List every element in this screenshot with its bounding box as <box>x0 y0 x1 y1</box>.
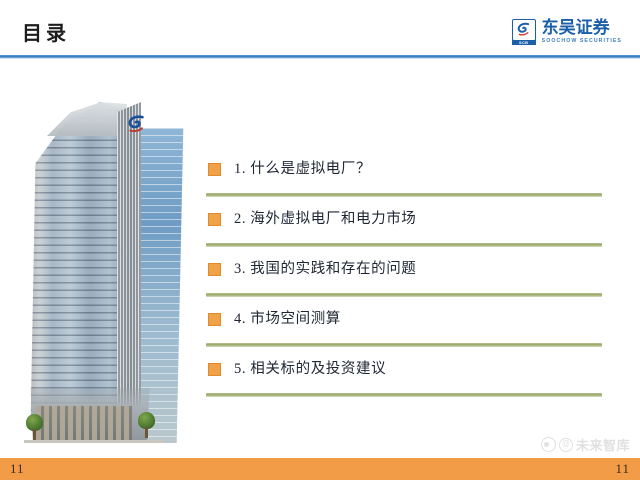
slide: 目录 SCB 东吴证券 SOOCHOW SECURITIES <box>0 0 640 480</box>
bullet-square-icon <box>208 163 221 176</box>
bullet-square-icon <box>208 263 221 276</box>
agenda-divider <box>206 293 602 297</box>
page-number-left: 11 <box>10 460 25 478</box>
agenda-item-3[interactable]: 3. 我国的实践和存在的问题 <box>206 252 604 302</box>
agenda-list: 1. 什么是虚拟电厂？ 2. 海外虚拟电厂和电力市场 3. 我国的实践和存在的问… <box>206 152 604 402</box>
brand-name-en: SOOCHOW SECURITIES <box>542 37 622 45</box>
watermark-text: 未来智库 <box>576 435 630 454</box>
logo-tag: SCB <box>512 40 536 45</box>
bullet-square-icon <box>208 363 221 376</box>
brand-text: 东吴证券 SOOCHOW SECURITIES <box>542 19 622 45</box>
agenda-divider <box>206 193 602 197</box>
agenda-item-label: 3. 我国的实践和存在的问题 <box>234 262 416 277</box>
bullet-square-icon <box>208 313 221 326</box>
agenda-item-label: 4. 市场空间测算 <box>234 312 341 327</box>
agenda-item-label: 5. 相关标的及投资建议 <box>234 362 386 377</box>
logo-swoosh-icon <box>516 22 531 37</box>
agenda-divider <box>206 343 602 347</box>
slide-header: 目录 SCB 东吴证券 SOOCHOW SECURITIES <box>0 0 640 57</box>
watermark-at-icon: @ <box>559 438 573 452</box>
brand-name-cn: 东吴证券 <box>542 19 622 37</box>
agenda-item-2[interactable]: 2. 海外虚拟电厂和电力市场 <box>206 202 604 252</box>
watermark-logo-icon <box>541 437 556 452</box>
agenda-item-label: 1. 什么是虚拟电厂？ <box>234 162 371 177</box>
bullet-square-icon <box>208 213 221 226</box>
agenda-item-5[interactable]: 5. 相关标的及投资建议 <box>206 352 604 402</box>
podium-columns <box>36 406 132 443</box>
page-title: 目录 <box>22 24 70 44</box>
ground-line <box>24 440 164 443</box>
agenda-item-label: 2. 海外虚拟电厂和电力市场 <box>234 212 416 227</box>
agenda-item-4[interactable]: 4. 市场空间测算 <box>206 302 604 352</box>
footer-bar: 11 11 <box>0 458 640 480</box>
agenda-divider <box>206 243 602 247</box>
brand-logo: SCB 东吴证券 SOOCHOW SECURITIES <box>512 19 622 45</box>
header-divider-soft <box>0 58 640 59</box>
watermark: @ 未来智库 <box>541 435 630 454</box>
building-emblem-icon <box>125 114 147 134</box>
tree-left-icon <box>26 414 43 440</box>
agenda-item-1[interactable]: 1. 什么是虚拟电厂？ <box>206 152 604 202</box>
headquarters-building-photo <box>22 88 197 443</box>
page-number-right: 11 <box>615 460 630 478</box>
soochow-securities-logo-icon: SCB <box>512 19 538 45</box>
agenda-divider <box>206 393 602 397</box>
tree-right-icon <box>138 412 155 438</box>
